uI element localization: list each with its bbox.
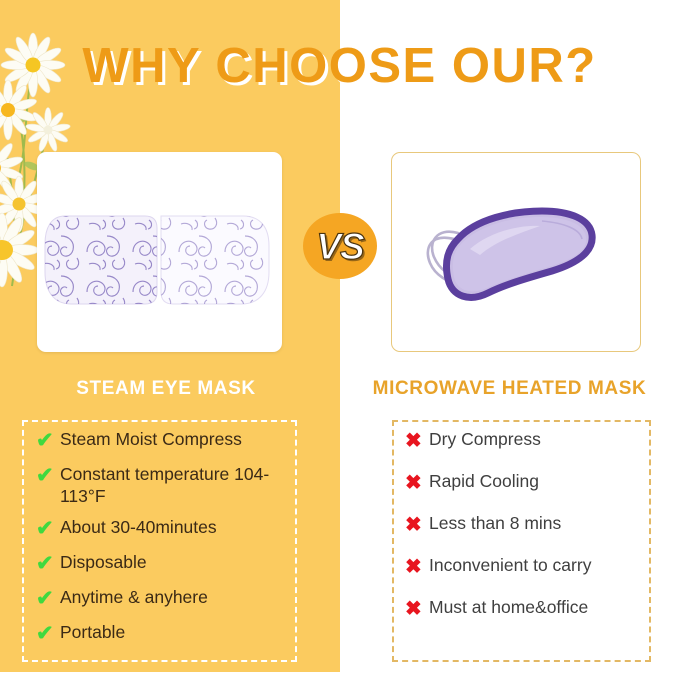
list-item: ✖ Rapid Cooling (405, 470, 655, 496)
steam-eye-mask-image-card (37, 152, 282, 352)
list-item-label: Inconvenient to carry (429, 554, 591, 576)
check-icon: ✔ (36, 621, 60, 647)
list-item: ✔ Steam Moist Compress (36, 428, 298, 454)
vs-label: VS (316, 228, 363, 265)
list-item: ✖ Inconvenient to carry (405, 554, 655, 580)
cross-icon: ✖ (405, 596, 429, 622)
list-item: ✔ Portable (36, 621, 298, 647)
list-item-label: Must at home&office (429, 596, 588, 618)
microwave-mask-drawbacks-list: ✖ Dry Compress ✖ Rapid Cooling ✖ Less th… (405, 428, 655, 638)
list-item: ✖ Dry Compress (405, 428, 655, 454)
infographic-canvas: WHY CHOOSE OUR? (0, 0, 679, 679)
background-bottom-strip (0, 672, 340, 679)
list-item-label: Dry Compress (429, 428, 541, 450)
list-item: ✔ About 30-40minutes (36, 516, 298, 542)
page-title: WHY CHOOSE OUR? (0, 38, 679, 94)
list-item-label: Portable (60, 621, 125, 643)
list-item-label: About 30-40minutes (60, 516, 217, 538)
list-item: ✔ Constant temperature 104-113°F (36, 463, 298, 507)
list-item: ✔ Anytime & anyhere (36, 586, 298, 612)
steam-mask-benefits-list: ✔ Steam Moist Compress ✔ Constant temper… (36, 428, 298, 656)
left-column-heading: STEAM EYE MASK (0, 378, 332, 400)
list-item-label: Less than 8 mins (429, 512, 561, 534)
list-item-label: Constant temperature 104-113°F (60, 463, 298, 507)
check-icon: ✔ (36, 586, 60, 612)
cross-icon: ✖ (405, 428, 429, 454)
check-icon: ✔ (36, 551, 60, 577)
cross-icon: ✖ (405, 470, 429, 496)
check-icon: ✔ (36, 428, 60, 454)
right-column-heading: MICROWAVE HEATED MASK (340, 378, 679, 400)
cross-icon: ✖ (405, 512, 429, 538)
microwave-heated-mask-photo (392, 153, 640, 351)
cross-icon: ✖ (405, 554, 429, 580)
steam-eye-mask-photo (37, 152, 282, 352)
list-item: ✖ Less than 8 mins (405, 512, 655, 538)
list-item-label: Steam Moist Compress (60, 428, 242, 450)
check-icon: ✔ (36, 463, 60, 489)
check-icon: ✔ (36, 516, 60, 542)
list-item: ✔ Disposable (36, 551, 298, 577)
list-item: ✖ Must at home&office (405, 596, 655, 622)
list-item-label: Anytime & anyhere (60, 586, 208, 608)
list-item-label: Disposable (60, 551, 147, 573)
vs-badge: VS (303, 213, 377, 279)
list-item-label: Rapid Cooling (429, 470, 539, 492)
microwave-heated-mask-image-card (391, 152, 641, 352)
